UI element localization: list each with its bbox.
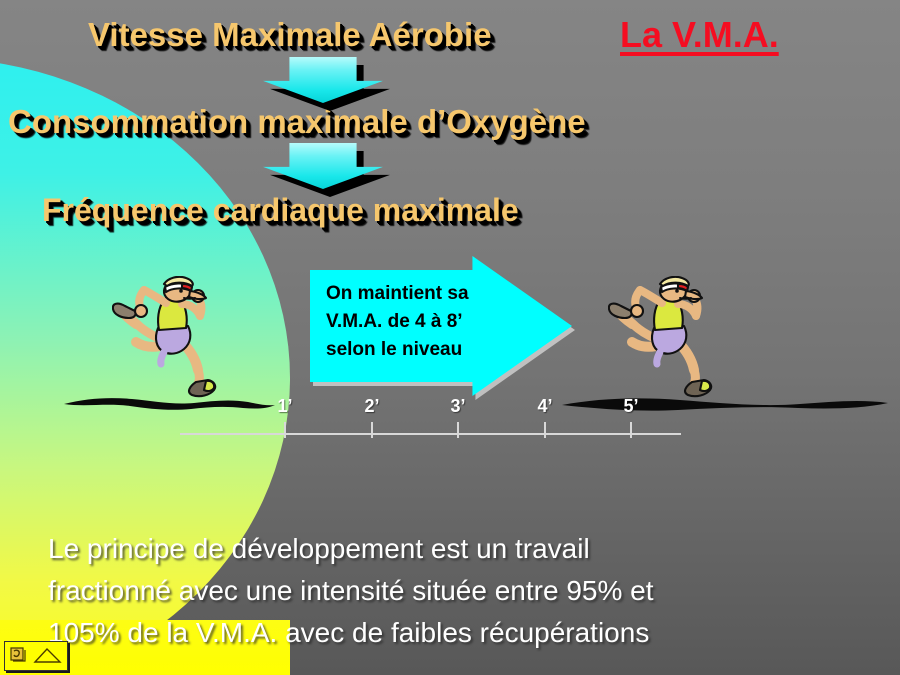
callout-line-1: On maintient sa xyxy=(326,280,506,308)
runner-illustration-right xyxy=(608,276,728,402)
down-arrow-icon xyxy=(263,143,383,189)
callout-text: On maintient sa V.M.A. de 4 à 8’ selon l… xyxy=(326,280,506,364)
title-badge-la-vma: La V.M.A. xyxy=(620,14,779,56)
footer-line-2: fractionné avec une intensité située ent… xyxy=(48,570,848,612)
down-arrow-icon xyxy=(263,57,383,103)
footer-line-3: 105% de la V.M.A. avec de faibles récupé… xyxy=(48,612,848,654)
callout-line-3: selon le niveau xyxy=(326,336,506,364)
footer-line-1: Le principe de développement est un trav… xyxy=(48,528,848,570)
timeline-tick-label-2: 2’ xyxy=(364,396,379,417)
timeline-tick-label-3: 3’ xyxy=(450,396,465,417)
callout-line-2: V.M.A. de 4 à 8’ xyxy=(326,308,506,336)
footer-paragraph: Le principe de développement est un trav… xyxy=(48,528,848,654)
presentation-slide: Vitesse Maximale Aérobie La V.M.A. Conso… xyxy=(0,0,900,675)
callout-arrow: On maintient sa V.M.A. de 4 à 8’ selon l… xyxy=(310,256,572,396)
timeline-tick-label-1: 1’ xyxy=(277,396,292,417)
heading-vitesse-maximale-aerobie: Vitesse Maximale Aérobie xyxy=(88,16,492,54)
heading-consommation-maximale-oxygene: Consommation maximale d’Oxygène xyxy=(8,103,586,141)
heading-frequence-cardiaque-maximale: Fréquence cardiaque maximale xyxy=(42,192,519,229)
note-and-shape-icon[interactable] xyxy=(4,641,68,671)
timeline-tick-label-4: 4’ xyxy=(537,396,552,417)
note-shape-glyphs xyxy=(5,642,67,670)
timeline-tick-label-5: 5’ xyxy=(623,396,638,417)
runner-illustration-left xyxy=(112,276,232,402)
